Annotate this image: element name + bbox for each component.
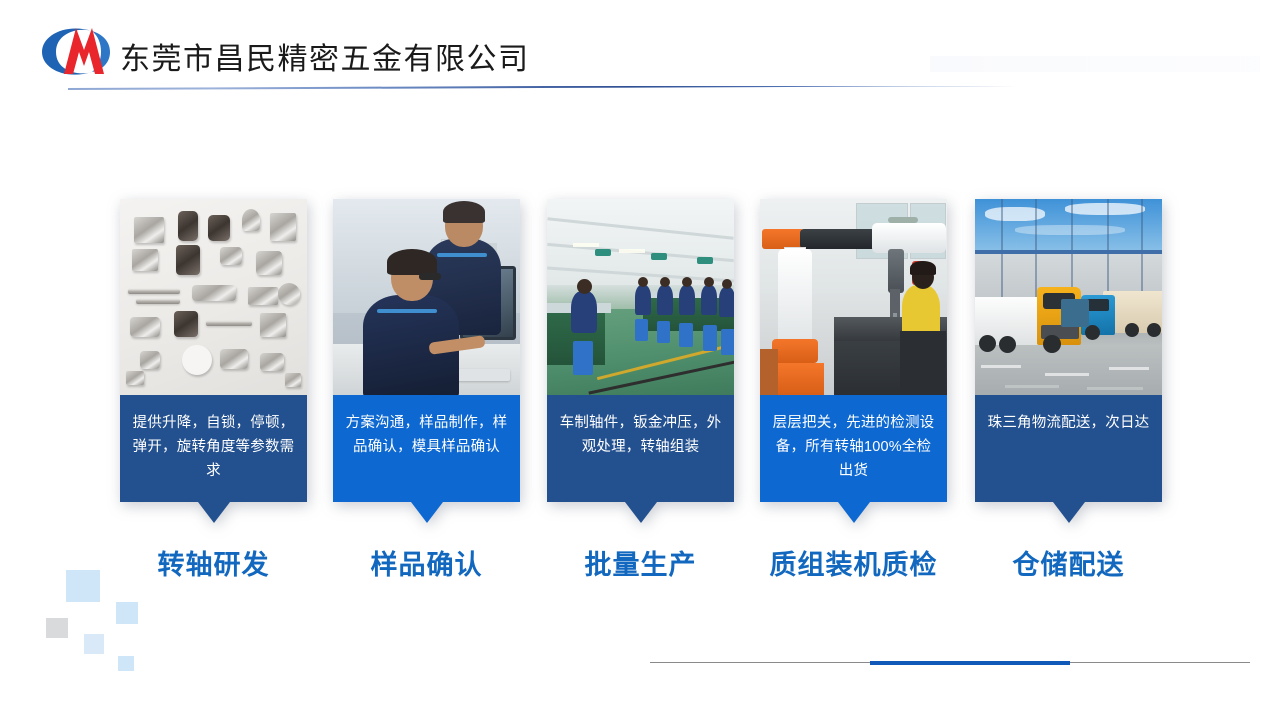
process-card-1-pointer [198,502,230,523]
process-card-3-pointer [625,502,657,523]
process-card-1-photo [120,199,307,395]
process-card-5-pointer [1053,502,1085,523]
process-card-5-caption: 珠三角物流配送，次日达 [975,395,1162,502]
header-divider [68,86,1264,92]
header-watermark [930,56,1260,72]
step-label-4[interactable]: 质组装机质检 [740,545,967,585]
step-label-5[interactable]: 仓储配送 [975,545,1162,585]
process-card-1[interactable]: 提供升降，自锁，停顿，弹开，旋转角度等参数需求 [120,199,307,502]
process-card-4[interactable]: 层层把关，先进的检测设备，所有转轴100%全检出货 [760,199,947,502]
process-card-5-photo [975,199,1162,395]
decor-square-2 [116,602,138,624]
slide-header: 东莞市昌民精密五金有限公司 [0,0,1280,104]
process-card-2[interactable]: 方案沟通，样品制作，样品确认，模具样品确认 [333,199,520,502]
process-card-3[interactable]: 车制轴件，钣金冲压，外观处理，转轴组装 [547,199,734,502]
process-card-3-photo [547,199,734,395]
process-card-1-caption: 提供升降，自锁，停顿，弹开，旋转角度等参数需求 [120,395,307,502]
changmin-logo-icon [36,22,120,82]
process-card-3-caption: 车制轴件，钣金冲压，外观处理，转轴组装 [547,395,734,502]
process-card-4-caption: 层层把关，先进的检测设备，所有转轴100%全检出货 [760,395,947,502]
decor-square-1 [66,570,100,602]
process-card-2-pointer [411,502,443,523]
process-card-5[interactable]: 珠三角物流配送，次日达 [975,199,1162,502]
process-card-2-photo [333,199,520,395]
decor-square-3 [46,618,68,638]
bottom-rule-accent [870,661,1070,665]
decor-square-5 [118,656,134,671]
step-label-3[interactable]: 批量生产 [547,545,734,585]
process-card-2-caption: 方案沟通，样品制作，样品确认，模具样品确认 [333,395,520,502]
process-step-labels: 转轴研发 样品确认 批量生产 质组装机质检 仓储配送 [120,545,1162,589]
company-title: 东莞市昌民精密五金有限公司 [120,40,530,80]
decor-square-4 [84,634,104,654]
process-card-row: 提供升降，自锁，停顿，弹开，旋转角度等参数需求 [120,199,1162,529]
decorative-squares [34,558,174,673]
slide-canvas: 东莞市昌民精密五金有限公司 [0,0,1280,720]
step-label-2[interactable]: 样品确认 [333,545,520,585]
process-card-4-photo [760,199,947,395]
bottom-accent-rule [650,660,1250,666]
process-card-4-pointer [838,502,870,523]
